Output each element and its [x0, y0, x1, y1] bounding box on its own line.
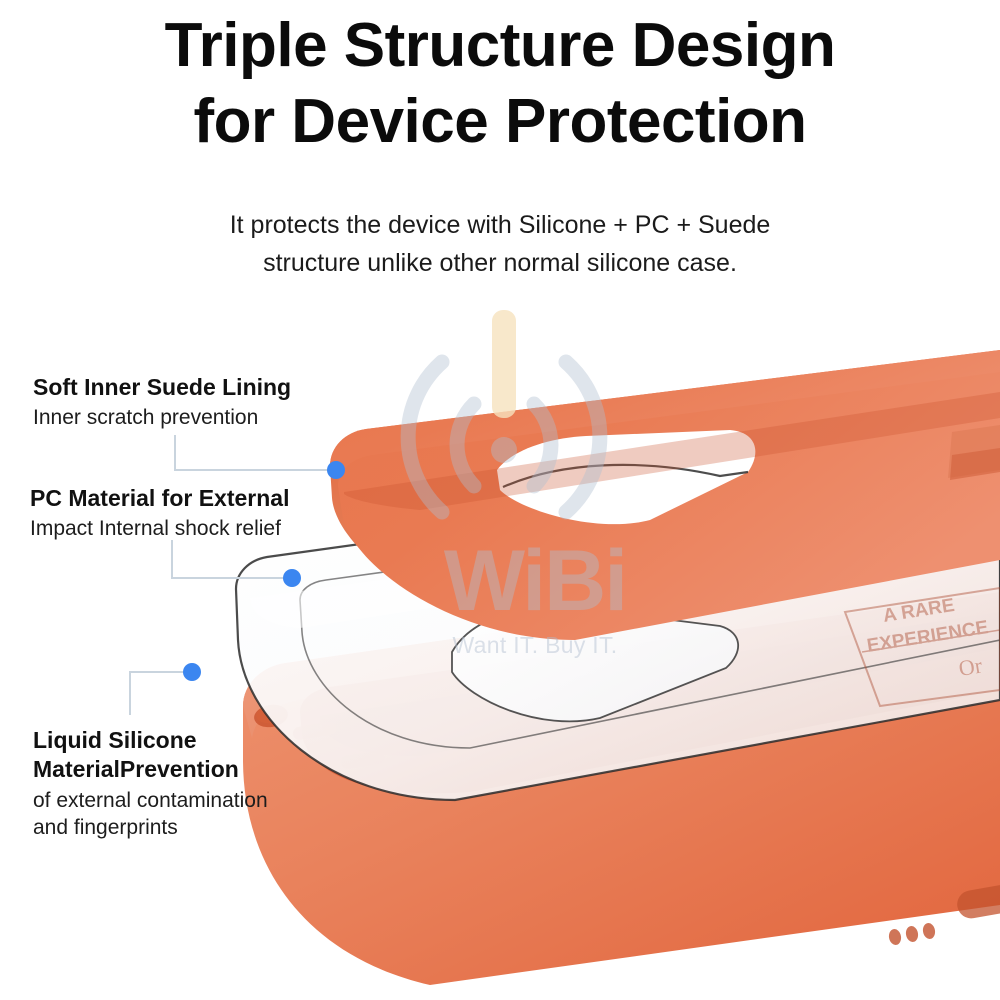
- annotation-pc-material: PC Material for External Impact Internal…: [30, 484, 375, 543]
- leader-line-silicone: [130, 672, 185, 715]
- annotation-liquid-silicone: Liquid Silicone MaterialPrevention of ex…: [33, 726, 363, 841]
- annotation-subtitle: Impact Internal shock relief: [30, 515, 375, 542]
- accent-dot-suede: [327, 461, 345, 479]
- annotation-title: Liquid Silicone MaterialPrevention: [33, 726, 363, 785]
- annotation-title: Soft Inner Suede Lining: [33, 373, 373, 402]
- annotation-title: PC Material for External: [30, 484, 375, 513]
- leader-line-suede: [175, 435, 330, 470]
- annotation-subtitle: of external contamination and fingerprin…: [33, 787, 363, 842]
- speaker-grille: [888, 922, 937, 946]
- product-infographic: Triple Structure Design for Device Prote…: [0, 0, 1000, 1000]
- embossed-mark: Or: [957, 653, 985, 681]
- annotation-suede-lining: Soft Inner Suede Lining Inner scratch pr…: [33, 373, 373, 432]
- annotation-subtitle: Inner scratch prevention: [33, 404, 373, 431]
- accent-dot-pc: [283, 569, 301, 587]
- accent-dot-silicone: [183, 663, 201, 681]
